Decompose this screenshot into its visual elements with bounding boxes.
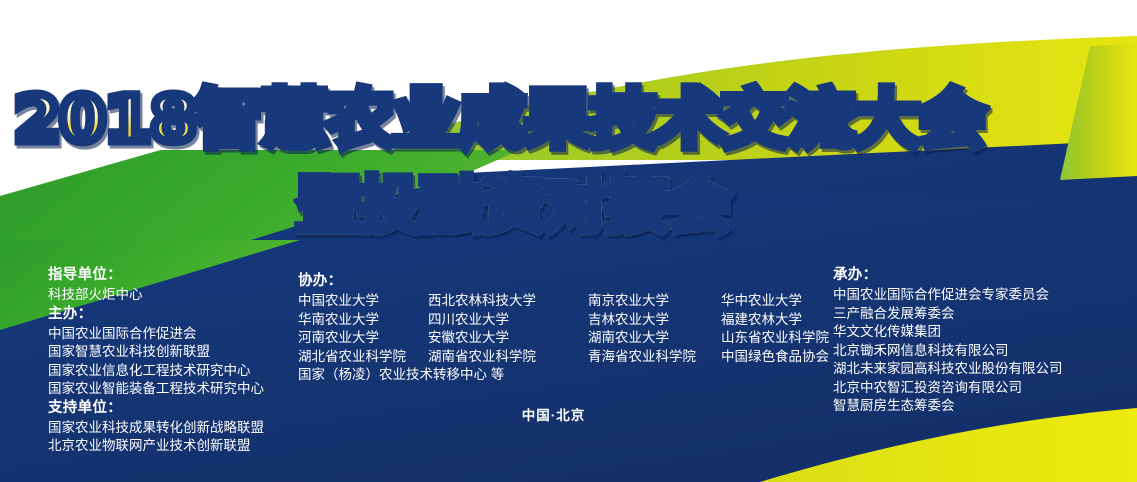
coorganizer-item: 山东省农业科学院 bbox=[721, 329, 829, 348]
organizer-item: 三产融合发展筹委会 bbox=[833, 305, 1123, 324]
organizer-item: 湖北未来家园高科技农业股份有限公司 bbox=[833, 360, 1123, 379]
coorganizer-item: 华南农业大学 bbox=[298, 311, 428, 330]
coorganizer-item: 吉林农业大学 bbox=[588, 311, 721, 330]
host-item: 国家农业智能装备工程技术研究中心 bbox=[48, 380, 298, 399]
coorganizer-item: 青海省农业科学院 bbox=[588, 348, 721, 367]
organizer-header: 承办： bbox=[833, 266, 1123, 285]
column-left-organizers: 指导单位： 科技部火炬中心 主办： 中国农业国际合作促进会 国家智慧农业科技创新… bbox=[48, 266, 298, 456]
coorganizer-item: 湖北省农业科学院 bbox=[298, 348, 428, 367]
organizer-item: 中国农业国际合作促进会专家委员会 bbox=[833, 286, 1123, 305]
guidance-unit-item: 科技部火炬中心 bbox=[48, 286, 298, 305]
coorganizer-item: 西北农林科技大学 bbox=[428, 292, 588, 311]
coorganizer-last-line: 国家（杨凌）农业技术转移中心 等 bbox=[298, 366, 818, 385]
guidance-unit-header: 指导单位： bbox=[48, 266, 298, 285]
column-middle-coorganizers: 协办： 中国农业大学 西北农林科技大学 南京农业大学 华中农业大学 华南农业大学… bbox=[298, 272, 818, 385]
organizer-item: 华文文化传媒集团 bbox=[833, 323, 1123, 342]
event-poster: 2018智慧农业成果技术交流大会 暨投融资对接会 指导单位： 科技部火炬中心 主… bbox=[0, 0, 1137, 482]
coorganizer-item: 河南农业大学 bbox=[298, 329, 428, 348]
coorganizer-item: 安徽农业大学 bbox=[428, 329, 588, 348]
coorganizer-item: 湖南农业大学 bbox=[588, 329, 721, 348]
top-green-band-2 bbox=[380, 36, 1137, 160]
coorganizer-item: 中国农业大学 bbox=[298, 292, 428, 311]
organizer-item: 北京中农智汇投资咨询有限公司 bbox=[833, 379, 1123, 398]
host-header: 主办： bbox=[48, 305, 298, 324]
host-item: 中国农业国际合作促进会 bbox=[48, 325, 298, 344]
support-unit-item: 北京农业物联网产业技术创新联盟 bbox=[48, 437, 298, 456]
coorganizer-item: 中国绿色食品协会 bbox=[721, 348, 829, 367]
coorganizer-item: 四川农业大学 bbox=[428, 311, 588, 330]
host-item: 国家智慧农业科技创新联盟 bbox=[48, 343, 298, 362]
venue-location: 中国·北京 bbox=[0, 404, 1137, 424]
coorganizer-item: 福建农林大学 bbox=[721, 311, 829, 330]
coorganizer-grid: 中国农业大学 西北农林科技大学 南京农业大学 华中农业大学 华南农业大学 四川农… bbox=[298, 292, 818, 366]
coorganizer-item: 湖南省农业科学院 bbox=[428, 348, 588, 367]
coorganizer-header: 协办： bbox=[298, 272, 818, 291]
coorganizer-item: 华中农业大学 bbox=[721, 292, 829, 311]
organizer-item: 北京锄禾网信息科技有限公司 bbox=[833, 342, 1123, 361]
column-right-organizers: 承办： 中国农业国际合作促进会专家委员会 三产融合发展筹委会 华文文化传媒集团 … bbox=[833, 266, 1123, 416]
venue-text: 中国·北京 bbox=[522, 404, 586, 424]
host-item: 国家农业信息化工程技术研究中心 bbox=[48, 362, 298, 381]
coorganizer-item: 南京农业大学 bbox=[588, 292, 721, 311]
